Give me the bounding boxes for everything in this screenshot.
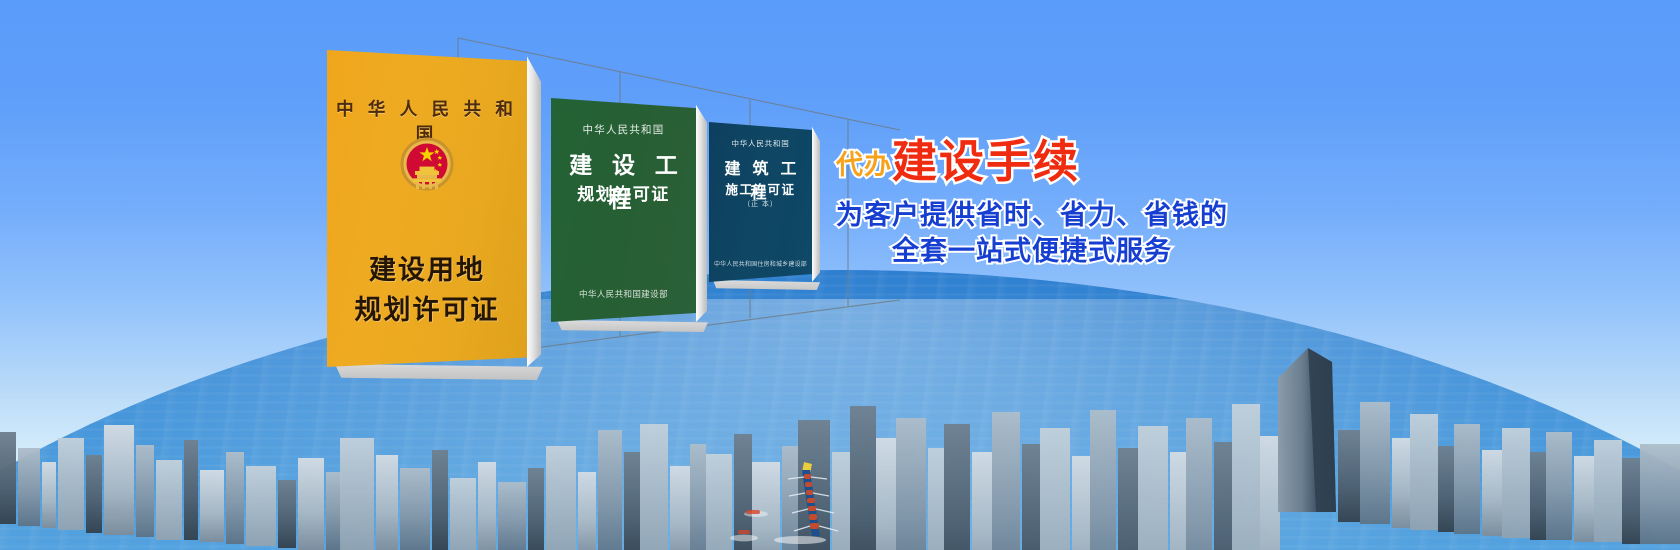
certificate-pages — [696, 98, 707, 322]
certificate-stand — [557, 320, 708, 332]
certificate-construction-project-planning-permit[interactable]: 中华人民共和国 建 设 工 程 规划许可证 中华人民共和国建设部 — [551, 98, 696, 322]
certificate-stand — [335, 364, 543, 380]
headline-block: 代办建设手续 为客户提供省时、省力、省钱的 全套一站式便捷式服务 — [836, 140, 1228, 269]
certificate-pages — [527, 50, 541, 367]
certificate-title: 建设用地 规划许可证 — [327, 250, 527, 330]
certificate-cover: 中 华 人 民 共 和 国 — [327, 50, 527, 367]
national-emblem-icon — [395, 133, 459, 199]
headline-subtitle-line2: 全套一站式便捷式服务 — [836, 233, 1228, 269]
headline-keyword-small: 代办 — [836, 150, 892, 180]
certificate-issuer: 中华人民共和国住房和城乡建设部 — [709, 259, 812, 268]
certificate-title-line2: 施工许可证 — [709, 179, 812, 198]
headline-main: 代办建设手续 — [836, 140, 1228, 185]
certificate-construction-works-permit[interactable]: 中华人民共和国 建 筑 工 程 施工许可证 （正 本） 中华人民共和国住房和城乡… — [709, 122, 812, 282]
certificate-issuer: 中华人民共和国建设部 — [551, 288, 696, 300]
certificate-country-header: 中华人民共和国 — [551, 122, 696, 137]
headline-keyword-big: 建设手续 — [892, 137, 1080, 187]
certificate-title-line2: 规划许可证 — [551, 180, 696, 205]
globe-horizon — [0, 270, 1680, 550]
certificate-pages — [812, 122, 820, 282]
headline-subtitle: 为客户提供省时、省力、省钱的 全套一站式便捷式服务 — [836, 197, 1228, 269]
promo-banner: 中 华 人 民 共 和 国 — [0, 0, 1680, 550]
water-sheen — [59, 299, 1621, 550]
certificate-country-header: 中华人民共和国 — [709, 138, 812, 149]
certificate-title-line1: 建设用地 — [327, 250, 527, 290]
certificate-title-line2: 规划许可证 — [327, 290, 527, 330]
headline-subtitle-line1: 为客户提供省时、省力、省钱的 — [836, 200, 1228, 230]
certificate-cover: 中华人民共和国 建 设 工 程 规划许可证 中华人民共和国建设部 — [551, 98, 696, 322]
certificate-subtitle: （正 本） — [709, 199, 812, 209]
certificate-cover: 中华人民共和国 建 筑 工 程 施工许可证 （正 本） 中华人民共和国住房和城乡… — [709, 122, 812, 282]
certificate-land-use-planning-permit[interactable]: 中 华 人 民 共 和 国 — [327, 50, 527, 367]
